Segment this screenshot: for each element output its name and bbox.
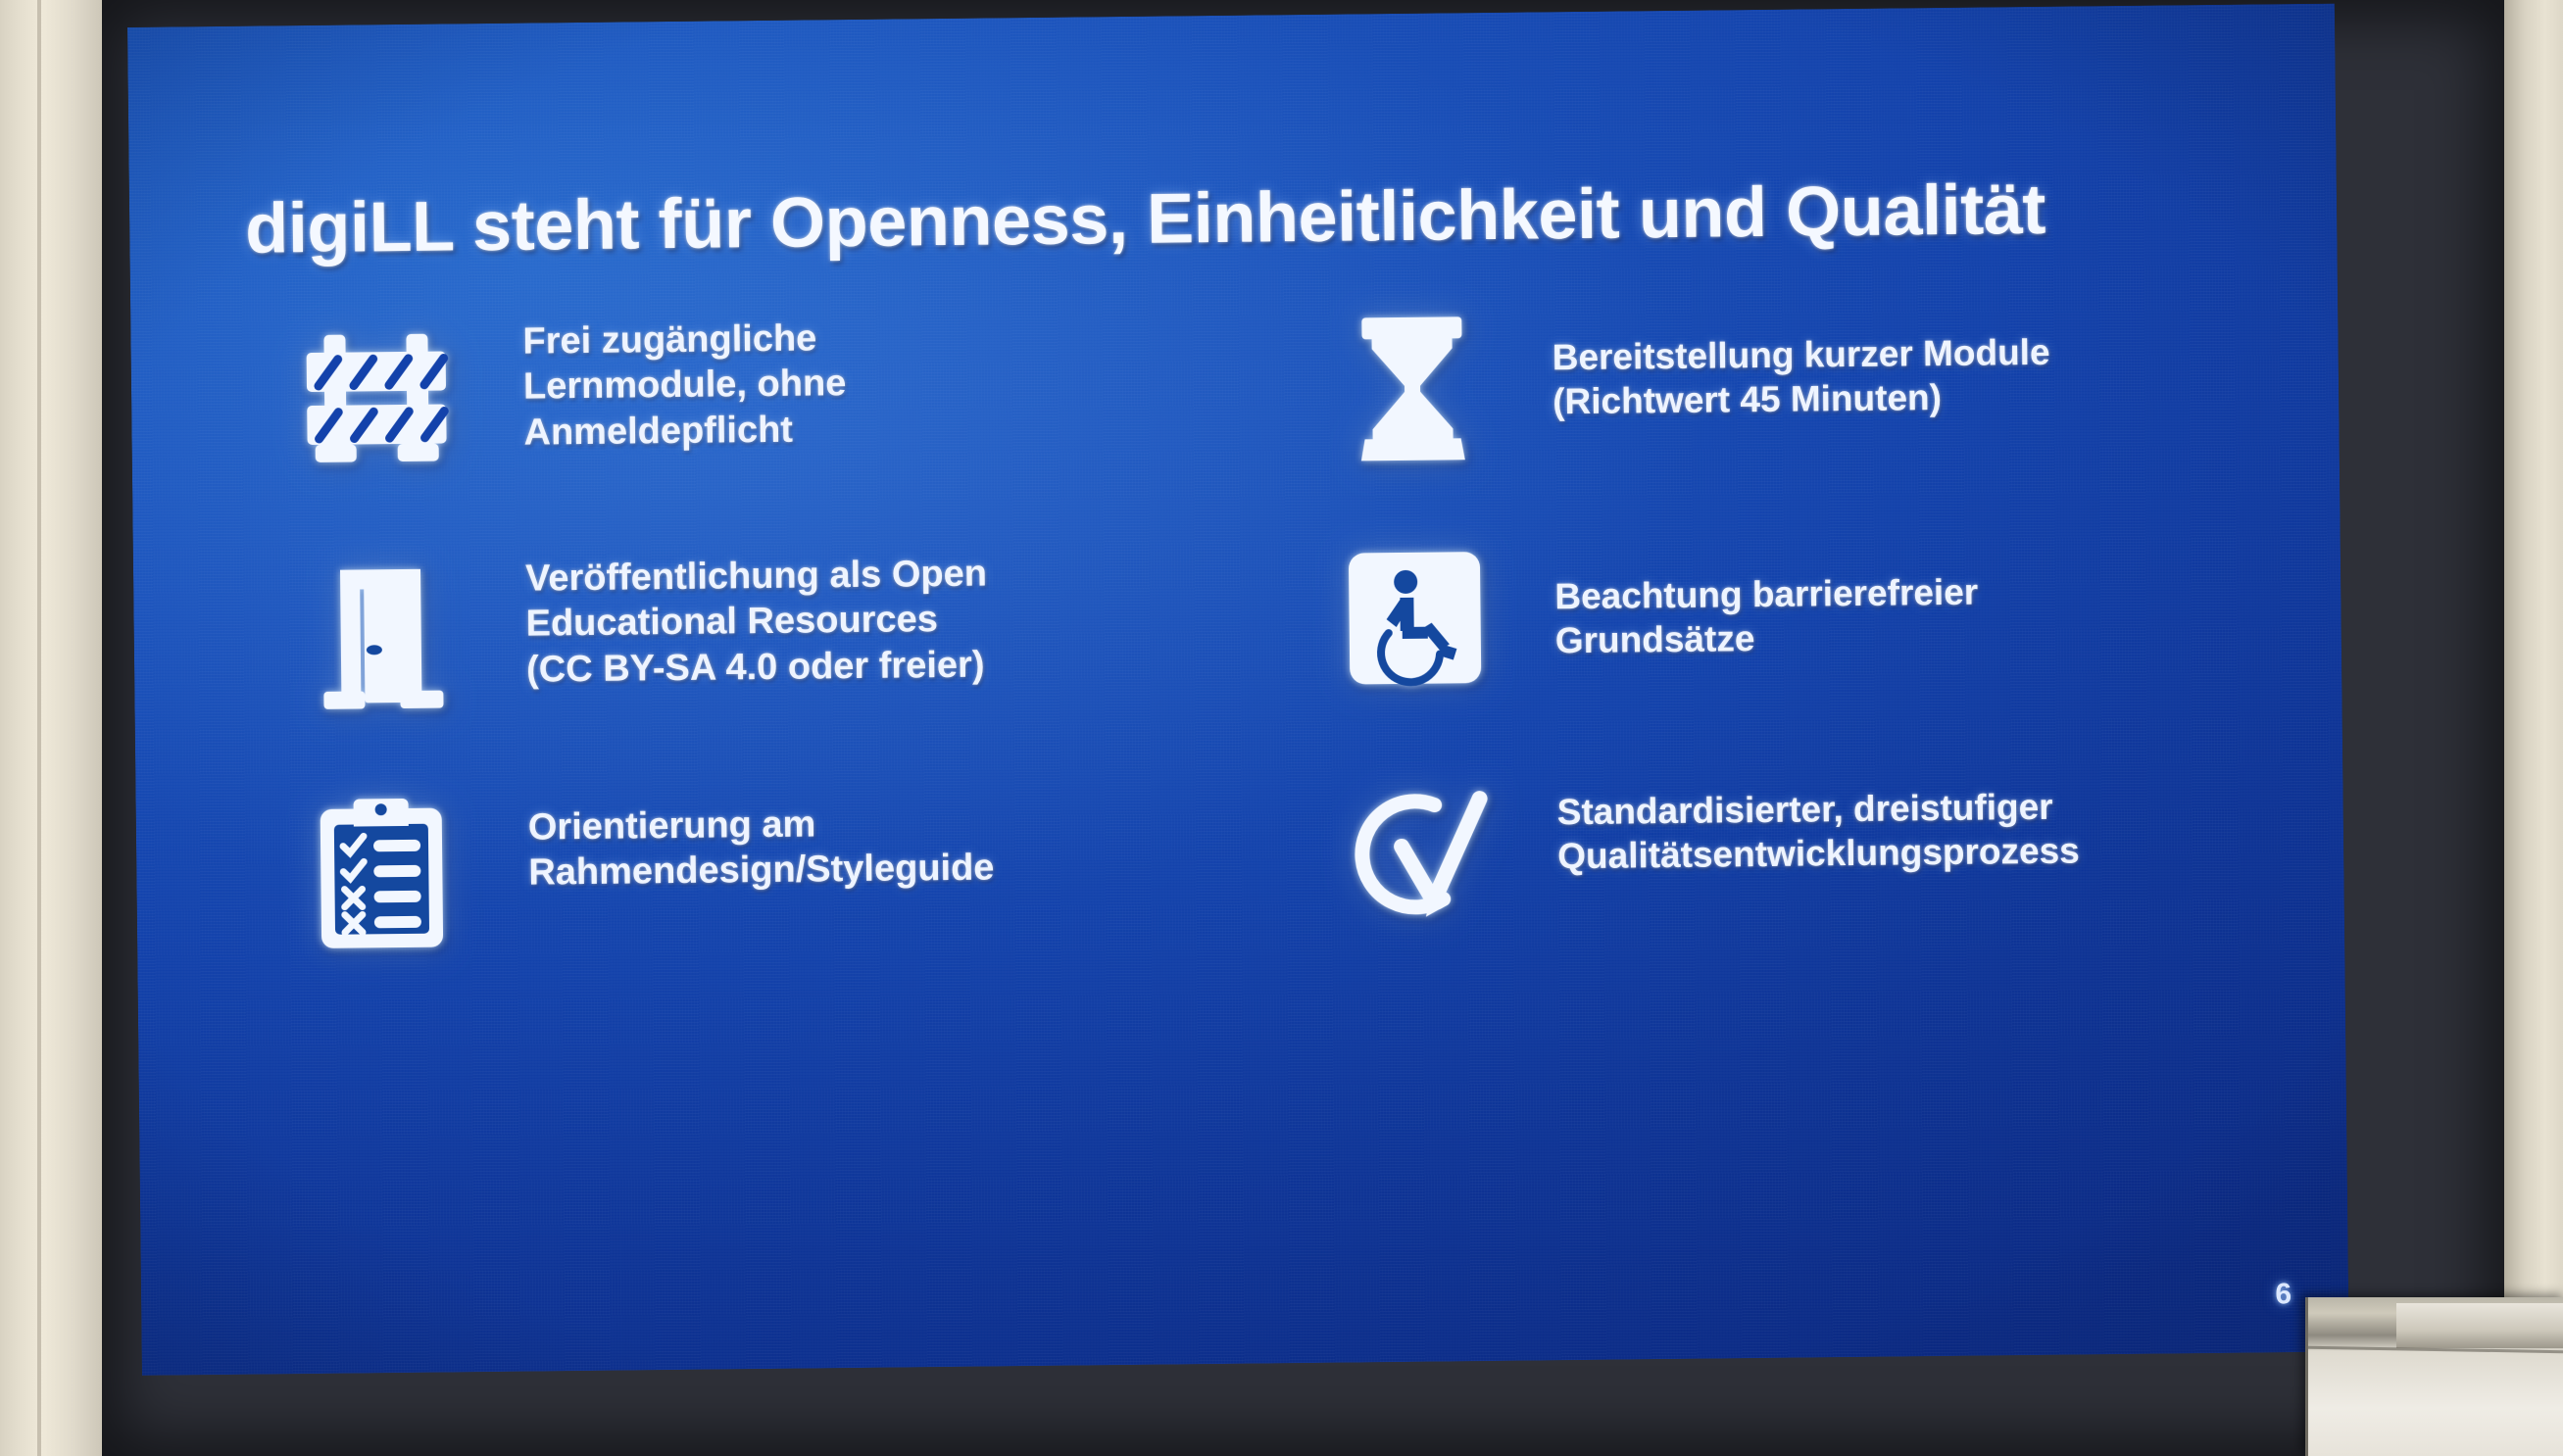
feature-grid: Frei zugängliche Lernmodule, ohne Anmeld… <box>228 299 2265 1020</box>
feature-line: Standardisierter, dreistufiger <box>1557 785 2080 835</box>
feature-line: (CC BY-SA 4.0 oder freier) <box>526 642 988 692</box>
feature-line: Beachtung barrierefreier <box>1554 570 1978 619</box>
feature-line: Qualitätsentwicklungsprozess <box>1557 829 2080 879</box>
feature-text-short-modules: Bereitstellung kurzer Module (Richtwert … <box>1552 301 2050 424</box>
feature-line: Orientierung am <box>528 800 995 849</box>
feature-text-open-access: Frei zugängliche Lernmodule, ohne Anmeld… <box>522 314 847 456</box>
feature-line: Veröffentlichung als Open <box>525 552 987 602</box>
feature-text-styleguide: Orientierung am Rahmendesign/Styleguide <box>527 778 994 896</box>
wall-seam <box>37 0 41 1456</box>
feature-item-oer-license: Veröffentlichung als Open Educational Re… <box>231 543 1220 787</box>
foreground-whiteboard <box>2305 1297 2563 1456</box>
slide-page-number: 6 <box>2275 1278 2292 1311</box>
feature-text-oer-license: Veröffentlichung als Open Educational Re… <box>525 546 988 693</box>
feature-item-accessibility: Beachtung barrierefreier Grundsätze <box>1274 531 2263 775</box>
slide-background: digiLL steht für Openness, Einheitlichke… <box>127 4 2349 1376</box>
feature-line: Anmeldepflicht <box>523 407 847 456</box>
projected-slide: digiLL steht für Openness, Einheitlichke… <box>127 4 2349 1376</box>
room-scene: digiLL steht für Openness, Einheitlichke… <box>0 0 2563 1456</box>
wall-left <box>0 0 102 1456</box>
wall-right <box>2504 0 2563 1456</box>
feature-line: (Richtwert 45 Minuten) <box>1553 374 2050 424</box>
feature-line: Grundsätze <box>1555 614 1979 663</box>
hourglass-icon <box>1271 306 1553 463</box>
feature-line: Rahmendesign/Styleguide <box>528 846 995 896</box>
feature-item-styleguide: Orientierung am Rahmendesign/Styleguide <box>233 776 1222 1020</box>
feature-item-quality-process: Standardisierter, dreistufiger Qualitäts… <box>1276 764 2265 1008</box>
feature-text-quality-process: Standardisierter, dreistufiger Qualitäts… <box>1556 767 2080 879</box>
open-door-icon <box>231 551 527 713</box>
feature-text-accessibility: Beachtung barrierefreier Grundsätze <box>1554 535 1979 663</box>
slide-content: digiLL steht für Openness, Einheitlichke… <box>127 4 2349 1376</box>
feature-line: Lernmodule, ohne <box>523 361 847 410</box>
feature-item-short-modules: Bereitstellung kurzer Module (Richtwert … <box>1271 299 2260 543</box>
clipboard-checklist-icon <box>233 784 529 953</box>
feature-line: Educational Resources <box>525 597 987 647</box>
whiteboard-rail <box>2396 1303 2563 1348</box>
feature-item-open-access: Frei zugängliche Lernmodule, ohne Anmeld… <box>228 310 1217 554</box>
feature-line: Frei zugängliche <box>522 315 846 364</box>
road-barrier-icon <box>228 317 524 467</box>
feature-line: Bereitstellung kurzer Module <box>1552 330 2049 380</box>
cycle-checkmark-icon <box>1276 772 1558 932</box>
slide-title: digiLL steht für Openness, Einheitlichke… <box>245 168 2255 269</box>
wheelchair-accessibility-icon <box>1274 539 1556 689</box>
